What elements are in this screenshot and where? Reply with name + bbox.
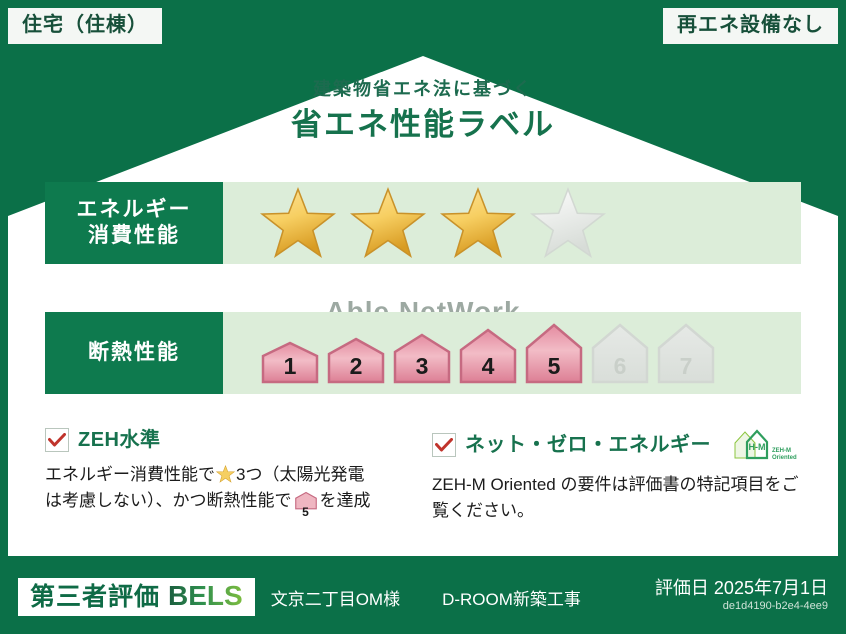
- footer-owner: 文京二丁目OM様: [271, 585, 400, 610]
- grade-house-3-value: 3: [391, 355, 453, 378]
- star-2-icon: [349, 186, 427, 260]
- inline-house-value: 5: [294, 506, 318, 518]
- grade-house-4: 4: [457, 326, 519, 385]
- star-rating: [259, 186, 607, 260]
- zeh-m-house-icon: H-M: [724, 428, 770, 462]
- grade-house-5: 5: [523, 321, 585, 385]
- insulation-performance-label: 断熱性能: [45, 312, 223, 394]
- badge-renewable-equipment: 再エネ設備なし: [663, 8, 838, 44]
- insulation-performance-row: 断熱性能 1 2: [45, 312, 801, 394]
- footer-evaluation-id: de1d4190-b2e4-4ee9: [655, 599, 828, 614]
- insulation-performance-value: 1 2 3 4: [223, 312, 801, 394]
- grade-house-7-value: 7: [655, 355, 717, 378]
- star-4-icon: [529, 186, 607, 260]
- bels-en-label: BELS: [168, 582, 243, 610]
- zeh-m-logo-mark: H-M: [749, 442, 766, 452]
- energy-performance-row: エネルギー 消費性能: [45, 182, 801, 264]
- zeh-m-caption-line2: Oriented: [772, 455, 797, 462]
- net-zero-energy-header: ネット・ゼロ・エネルギー H-M ZEH-M Oriented: [432, 428, 807, 462]
- check-icon: [435, 438, 453, 452]
- grade-house-4-value: 4: [457, 355, 519, 378]
- inline-house-badge: 5: [294, 491, 318, 518]
- energy-performance-value: [223, 182, 801, 264]
- grade-house-1: 1: [259, 339, 321, 385]
- bels-jp-label: 第三者評価: [30, 585, 160, 610]
- net-zero-energy-note: ネット・ゼロ・エネルギー H-M ZEH-M Oriented ZEH-M Or…: [432, 428, 807, 525]
- zeh-m-caption-line1: ZEH-M: [772, 448, 797, 455]
- net-zero-energy-checkbox[interactable]: [432, 433, 456, 457]
- zeh-standard-checkbox[interactable]: [45, 428, 69, 452]
- zeh-standard-body: エネルギー消費性能で 3つ（太陽光発電 は考慮しない）、かつ断熱性能で 5 を達…: [45, 462, 420, 519]
- zeh-body-star-count: 3つ（太陽光発電: [236, 465, 364, 484]
- footer-evaluation-info: 評価日 2025年7月1日 de1d4190-b2e4-4ee9: [655, 579, 828, 614]
- bels-badge: 第三者評価 BELS: [18, 578, 255, 616]
- energy-label-line2: 消費性能: [88, 223, 180, 249]
- grade-house-6: 6: [589, 321, 651, 385]
- net-zero-energy-body: ZEH-M Oriented の要件は評価書の特記項目をご覧ください。: [432, 472, 807, 525]
- star-1-icon: [259, 186, 337, 260]
- energy-label-line1: エネルギー: [77, 197, 192, 223]
- footer: 第三者評価 BELS 文京二丁目OM様 D-ROOM新築工事 評価日 2025年…: [0, 560, 846, 634]
- zeh-m-oriented-logo: H-M ZEH-M Oriented: [724, 428, 797, 462]
- footer-project: D-ROOM新築工事: [442, 585, 581, 610]
- grade-house-5-value: 5: [523, 355, 585, 378]
- grade-house-2: 2: [325, 335, 387, 385]
- grade-house-7: 7: [655, 321, 717, 385]
- grade-house-6-value: 6: [589, 355, 651, 378]
- zeh-standard-note: ZEH水準 エネルギー消費性能で 3つ（太陽光発電 は考慮しない）、かつ断熱性能…: [45, 428, 420, 519]
- grade-house-3: 3: [391, 331, 453, 385]
- star-3-icon: [439, 186, 517, 260]
- grade-house-1-value: 1: [259, 355, 321, 378]
- zeh-body-part3: を達成: [320, 491, 371, 510]
- zeh-standard-title: ZEH水準: [78, 430, 161, 450]
- energy-performance-label: エネルギー 消費性能: [45, 182, 223, 264]
- footer-evaluation-date: 評価日 2025年7月1日: [655, 579, 828, 599]
- zeh-body-part1: エネルギー消費性能で: [45, 465, 215, 484]
- insulation-grade-scale: 1 2 3 4: [259, 321, 717, 385]
- zeh-body-part2: は考慮しない）、かつ断熱性能で: [45, 491, 292, 510]
- energy-performance-label: 住宅（住棟） 再エネ設備なし 建築物省エネ法に基づく 省エネ性能ラベル エネルギ…: [0, 0, 846, 634]
- check-icon: [48, 433, 66, 447]
- zeh-standard-header: ZEH水準: [45, 428, 420, 452]
- inline-star-icon: [216, 465, 235, 483]
- net-zero-energy-title: ネット・ゼロ・エネルギー: [465, 435, 711, 455]
- badge-dwelling-type: 住宅（住棟）: [8, 8, 162, 44]
- grade-house-2-value: 2: [325, 355, 387, 378]
